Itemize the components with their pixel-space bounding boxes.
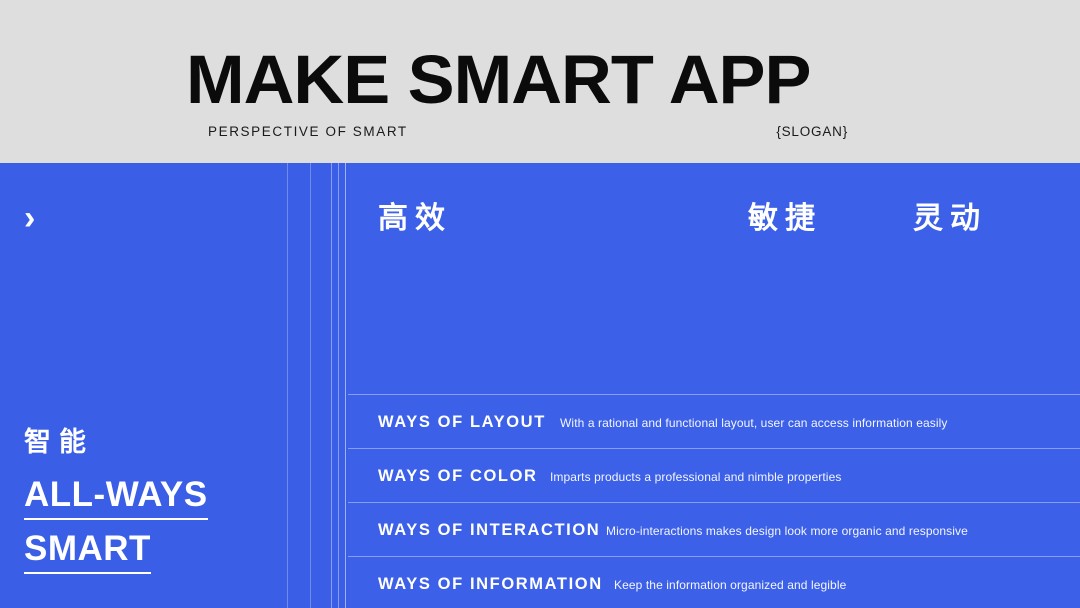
sidebar-en-line-2: SMART — [24, 529, 151, 574]
header-subtitle-left: PERSPECTIVE OF SMART — [208, 124, 408, 139]
way-title-color: WAYS OF COLOR — [378, 466, 538, 486]
vertical-rule-1 — [287, 163, 288, 608]
header-band: MAKE SMART APP PERSPECTIVE OF SMART {SLO… — [0, 0, 1080, 163]
header-slogan: {SLOGAN} — [776, 124, 848, 139]
vertical-rule-4 — [338, 163, 339, 608]
list-item[interactable]: WAYS OF INTERACTION Micro-interactions m… — [348, 502, 1080, 556]
way-desc-layout: With a rational and functional layout, u… — [560, 416, 948, 431]
keyword-lingdong: 灵动 — [913, 197, 987, 241]
list-item[interactable]: WAYS OF INFORMATION Keep the information… — [348, 556, 1080, 608]
chevron-right-icon[interactable]: › — [24, 201, 35, 235]
page-title: MAKE SMART APP — [186, 44, 880, 116]
way-title-interaction: WAYS OF INTERACTION — [378, 520, 600, 540]
way-title-information: WAYS OF INFORMATION — [378, 574, 603, 594]
vertical-rule-5 — [345, 163, 346, 608]
vertical-rule-2 — [310, 163, 311, 608]
header-subtitle-row: PERSPECTIVE OF SMART {SLOGAN} — [208, 124, 848, 142]
body-panel: › 高效 敏捷 灵动 智能 ALL-WAYS SMART WAYS OF LAY… — [0, 163, 1080, 608]
slide-root: MAKE SMART APP PERSPECTIVE OF SMART {SLO… — [0, 0, 1080, 608]
way-desc-information: Keep the information organized and legib… — [614, 578, 846, 593]
way-title-layout: WAYS OF LAYOUT — [378, 412, 546, 432]
way-desc-interaction: Micro-interactions makes design look mor… — [606, 524, 968, 539]
way-desc-color: Imparts products a professional and nimb… — [550, 470, 841, 485]
header-content: MAKE SMART APP PERSPECTIVE OF SMART {SLO… — [186, 0, 866, 163]
keyword-gaoxiao: 高效 — [378, 197, 452, 241]
list-item[interactable]: WAYS OF LAYOUT With a rational and funct… — [348, 394, 1080, 448]
sidebar-en-line-1: ALL-WAYS — [24, 475, 208, 520]
sidebar-cn-label: 智能 — [24, 425, 274, 461]
keyword-minjie: 敏捷 — [748, 197, 822, 241]
list-item[interactable]: WAYS OF COLOR Imparts products a profess… — [348, 448, 1080, 502]
vertical-rule-3 — [331, 163, 332, 608]
sidebar-text-block: 智能 ALL-WAYS SMART — [24, 425, 274, 583]
keyword-row: 高效 敏捷 灵动 — [348, 197, 1080, 243]
ways-list: WAYS OF LAYOUT With a rational and funct… — [348, 394, 1080, 608]
